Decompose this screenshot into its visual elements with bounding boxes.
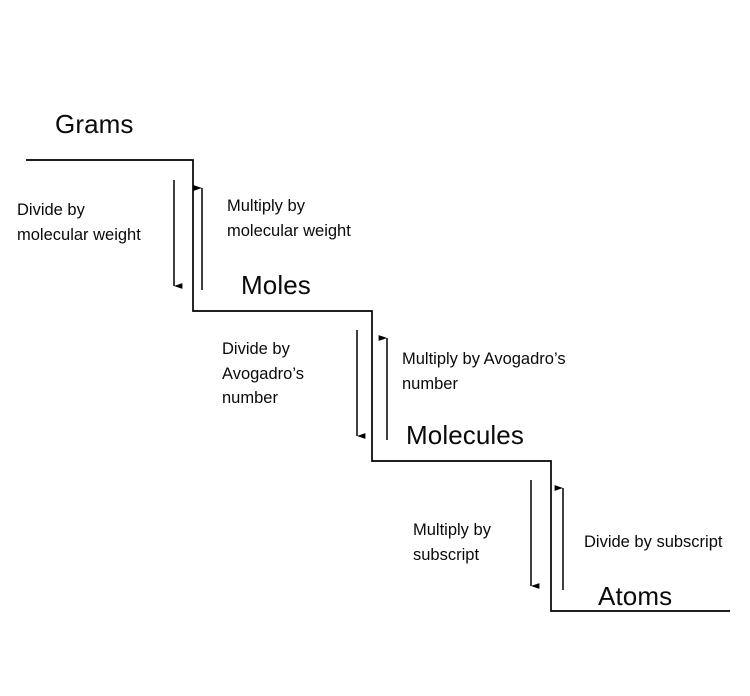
annotation-divide-avogadro: Divide by Avogadro’s number — [222, 337, 304, 411]
annotation-multiply-molecular-weight: Multiply by molecular weight — [227, 194, 351, 243]
step-label-molecules: Molecules — [406, 421, 524, 449]
annotation-multiply-subscript: Multiply by subscript — [413, 518, 491, 567]
step-label-moles: Moles — [241, 271, 311, 299]
mole-conversion-diagram: Grams Moles Molecules Atoms Divide by mo… — [0, 0, 750, 696]
annotation-divide-molecular-weight: Divide by molecular weight — [17, 198, 141, 247]
step-label-atoms: Atoms — [598, 582, 672, 610]
annotation-divide-subscript: Divide by subscript — [584, 530, 722, 555]
annotation-multiply-avogadro: Multiply by Avogadro’s number — [402, 347, 566, 396]
step-label-grams: Grams — [55, 110, 134, 138]
